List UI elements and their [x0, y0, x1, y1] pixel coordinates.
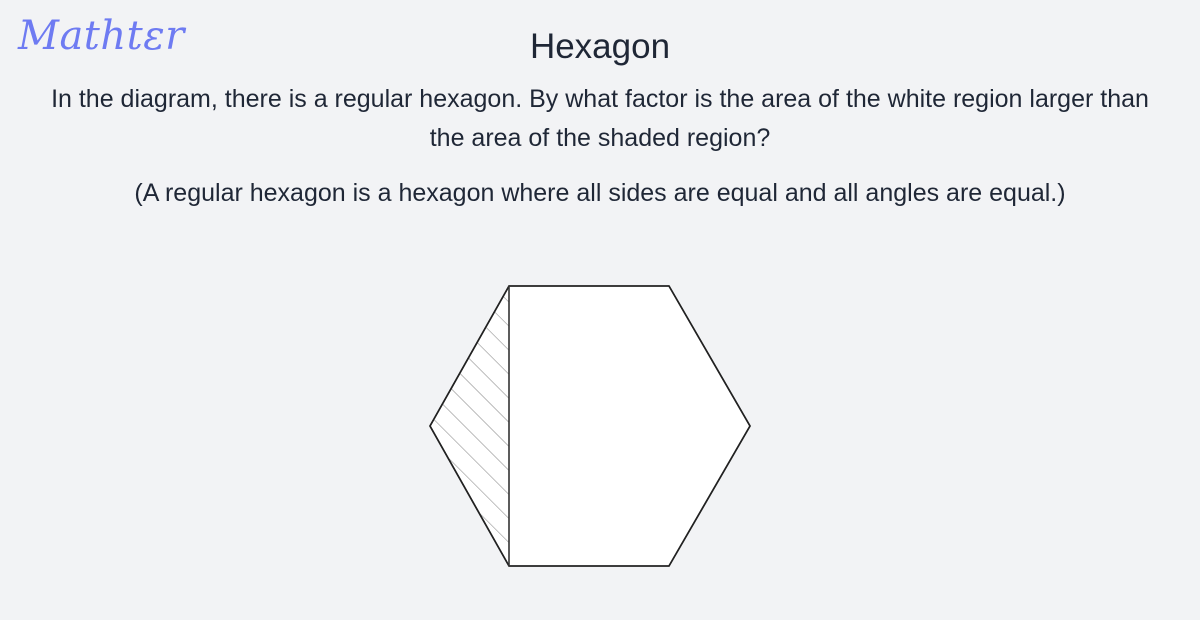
regular-hexagon-diagram [400, 260, 800, 600]
question-text: In the diagram, there is a regular hexag… [50, 80, 1150, 158]
figure-container [0, 260, 1200, 600]
page-root: Mathtεr Hexagon In the diagram, there is… [0, 0, 1200, 620]
question-note: (A regular hexagon is a hexagon where al… [35, 174, 1165, 213]
page-title: Hexagon [0, 26, 1200, 68]
